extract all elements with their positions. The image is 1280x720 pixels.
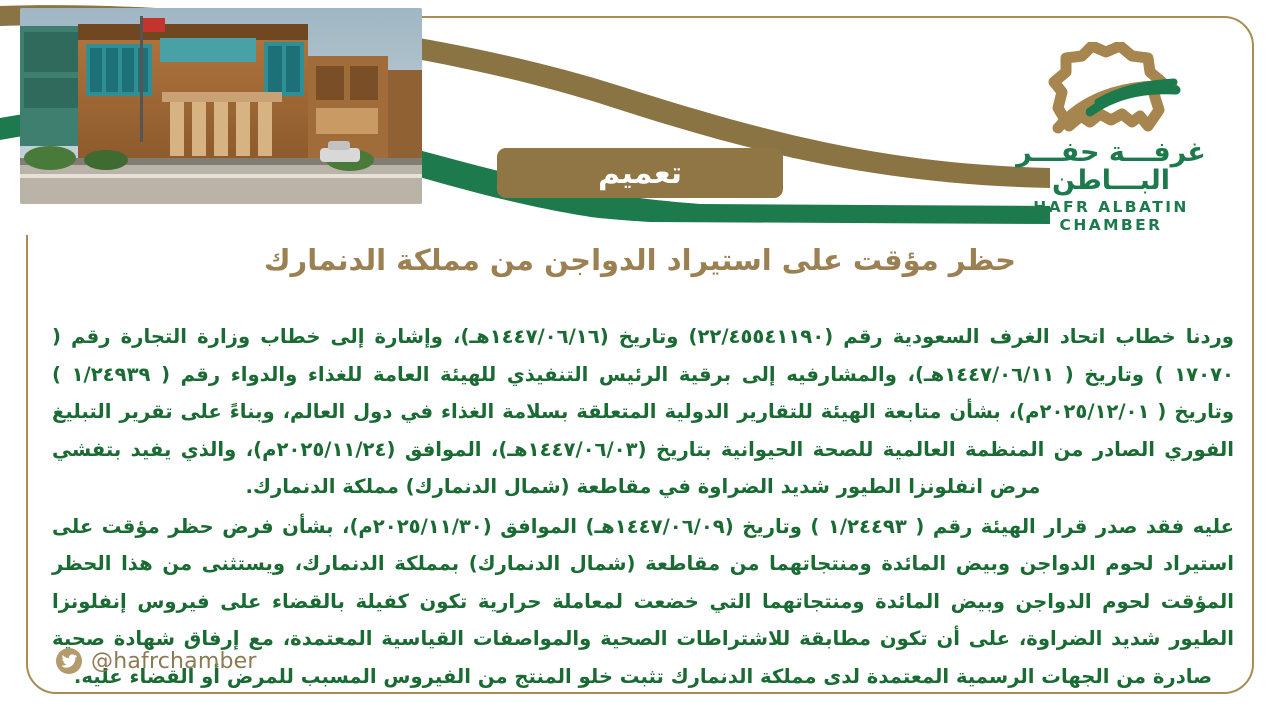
chamber-gear-logo-icon: [1036, 42, 1186, 138]
chamber-building-photo: [20, 8, 422, 204]
social-handle[interactable]: @hafrchamber: [56, 648, 257, 674]
chamber-name-arabic: غرفـــة حفـــر البـــاطن: [980, 139, 1242, 196]
page-title: حظر مؤقت على استيراد الدواجن من مملكة ال…: [0, 243, 1280, 277]
twitter-handle-text: @hafrchamber: [91, 649, 257, 674]
chamber-name-english: HAFR ALBATIN CHAMBER: [980, 198, 1242, 234]
circular-type-badge: تعميم: [497, 148, 783, 198]
twitter-bird-icon: [56, 648, 82, 674]
announcement-body: وردنا خطاب اتحاد الغرف السعودية رقم (٢٢/…: [52, 318, 1234, 697]
chamber-logo: غرفـــة حفـــر البـــاطن HAFR ALBATIN CH…: [980, 42, 1242, 194]
circular-poster: غرفـــة حفـــر البـــاطن HAFR ALBATIN CH…: [0, 0, 1280, 720]
body-paragraph-1: وردنا خطاب اتحاد الغرف السعودية رقم (٢٢/…: [52, 318, 1234, 506]
